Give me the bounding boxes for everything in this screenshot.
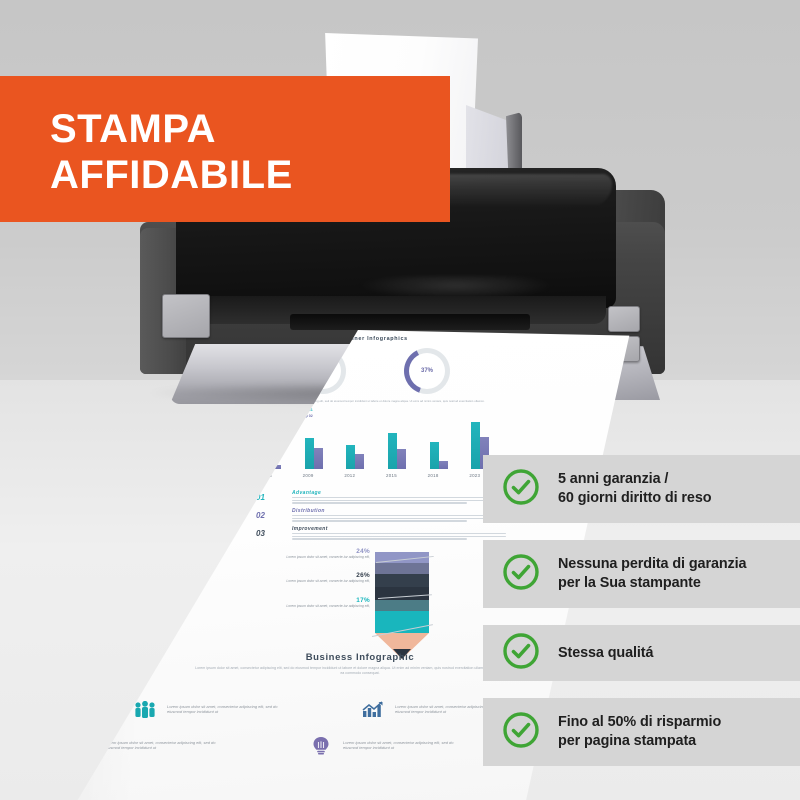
power-button[interactable]	[162, 294, 210, 338]
bar	[439, 461, 448, 469]
axis-tick-label: 2015	[386, 473, 397, 478]
icon-feature-item: Lorem ipsum dolor sit amet, consectetur …	[132, 698, 283, 720]
feature-box-3[interactable]: Stessa qualitá	[483, 625, 800, 681]
funnel-description: Lorem ipsum dolor sit amet, consecte-tur…	[230, 604, 370, 608]
check-circle-icon	[502, 711, 540, 754]
numbered-list-item: 03Improvement	[256, 526, 506, 544]
feature-text: Stessa qualitá	[558, 644, 653, 663]
funnel-segment	[375, 574, 429, 587]
check-circle-icon	[502, 553, 540, 596]
funnel-description: Lorem ipsum dolor sit amet, consecte-tur…	[230, 579, 370, 583]
funnel-percent: 26%	[230, 572, 370, 579]
funnel-segment	[375, 611, 429, 622]
funnel-chart	[375, 552, 429, 659]
check-circle-icon	[502, 468, 540, 511]
funnel-labels: 24%Lorem ipsum dolor sit amet, consecte-…	[230, 548, 370, 621]
numbered-list-item: 01Advantage	[256, 490, 506, 508]
numbered-list: 01Advantage02Distribution03Improvement	[256, 490, 506, 544]
feature-box-4[interactable]: Fino al 50% di risparmio per pagina stam…	[483, 698, 800, 766]
lightbulb-icon	[308, 734, 334, 756]
funnel-label-item: 17%Lorem ipsum dolor sit amet, consecte-…	[230, 597, 370, 608]
bar	[388, 433, 397, 469]
icon-feature-text: Lorem ipsum dolor sit amet, consectetur …	[167, 704, 283, 714]
funnel-segment	[375, 600, 429, 611]
funnel-description: Lorem ipsum dolor sit amet, consecte-tur…	[230, 555, 370, 559]
donut-chart-2: 37%	[404, 348, 450, 394]
axis-tick-label: 2023	[469, 473, 480, 478]
bar	[355, 454, 364, 469]
bar	[346, 445, 355, 469]
control-button-1[interactable]	[608, 306, 640, 332]
funnel-label-item: 24%Lorem ipsum dolor sit amet, consecte-…	[230, 548, 370, 559]
axis-tick-label: 2012	[344, 473, 355, 478]
feature-text: 5 anni garanzia / 60 giorni diritto di r…	[558, 470, 711, 508]
bar	[305, 438, 314, 469]
feature-text: Nessuna perdita di garanzia per la Sua s…	[558, 555, 746, 593]
bar	[430, 442, 439, 469]
list-body-lines	[292, 515, 506, 523]
funnel-percent: 24%	[230, 548, 370, 555]
headline-banner: STAMPAAFFIDABILE	[0, 76, 450, 222]
list-number: 02	[256, 511, 265, 520]
funnel-percent: 17%	[230, 597, 370, 604]
funnel-segment	[375, 563, 429, 574]
feature-text: Fino al 50% di risparmio per pagina stam…	[558, 713, 721, 751]
axis-tick-label: 2009	[303, 473, 314, 478]
poster-canvas: Banner Infographics 35% 37% Lorem ipsum …	[0, 0, 800, 800]
funnel-label-item: 26%Lorem ipsum dolor sit amet, consecte-…	[230, 572, 370, 583]
printer-paper-slot	[290, 314, 530, 330]
page-title: STAMPAAFFIDABILE	[50, 106, 293, 198]
numbered-list-item: 02Distribution	[256, 508, 506, 526]
donut-label: 37%	[404, 348, 450, 394]
check-circle-icon	[502, 632, 540, 675]
business-section-paragraph: Lorem ipsum dolor sit amet, consectetur …	[195, 666, 525, 676]
funnel-segment	[375, 622, 429, 633]
icon-feature-item: Lorem ipsum dolor sit amet, consectetur …	[308, 734, 459, 756]
bar	[397, 449, 406, 469]
list-body-lines	[292, 497, 506, 505]
feature-box-2[interactable]: Nessuna perdita di garanzia per la Sua s…	[483, 540, 800, 608]
icon-feature-text: Lorem ipsum dolor sit amet, consectetur …	[105, 740, 221, 750]
list-title: Advantage	[292, 490, 321, 496]
headline-line-1: STAMPA	[50, 107, 216, 151]
list-title: Distribution	[292, 508, 325, 514]
business-section-title: Business Infographic	[306, 652, 415, 663]
axis-tick-label: 2018	[428, 473, 439, 478]
bar	[314, 448, 323, 469]
list-number: 03	[256, 529, 265, 538]
list-body-lines	[292, 533, 506, 541]
icon-feature-text: Lorem ipsum dolor sit amet, consectetur …	[343, 740, 459, 750]
headline-line-2: AFFIDABILE	[50, 153, 293, 197]
bar-chart-arrow-icon	[360, 698, 386, 720]
list-title: Improvement	[292, 526, 328, 532]
feature-box-1[interactable]: 5 anni garanzia / 60 giorni diritto di r…	[483, 455, 800, 523]
bar	[471, 422, 480, 469]
